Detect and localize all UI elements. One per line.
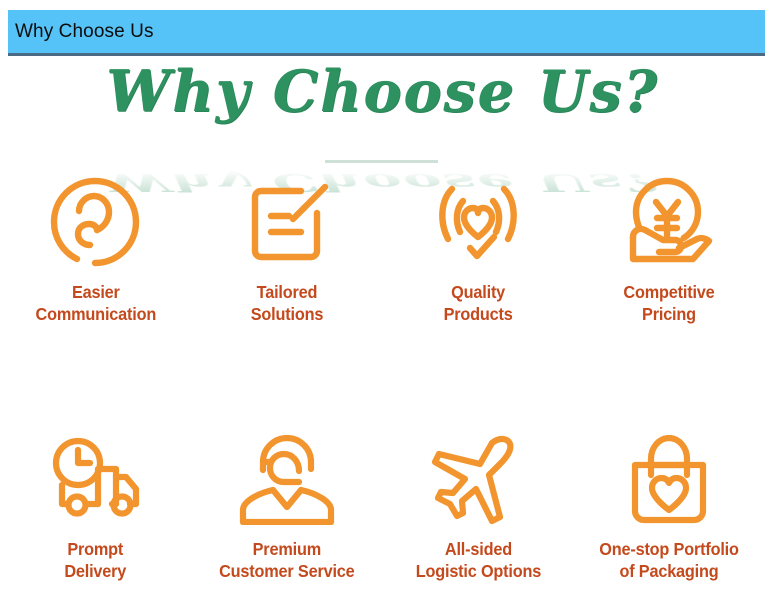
headset-person-icon (237, 425, 337, 535)
feature-label: Competitive Pricing (624, 281, 715, 325)
feature-label: Prompt Delivery (65, 538, 127, 582)
feature-row: Prompt Delivery Premium Customer Service (0, 425, 765, 582)
window-titlebar: Why Choose Us (8, 10, 765, 53)
feature-item-quality-products[interactable]: Quality Products (383, 168, 574, 325)
feature-grid: Easier Communication Tailored Solutions (0, 168, 765, 582)
delivery-truck-clock-icon (46, 425, 146, 535)
heading-block: Why Choose Us? Why Choose Us? (0, 56, 765, 168)
document-pencil-icon (239, 168, 335, 278)
feature-item-prompt-delivery[interactable]: Prompt Delivery (0, 425, 191, 582)
shopping-bag-heart-icon (621, 425, 717, 535)
ear-in-circle-icon (48, 168, 144, 278)
feature-label: One-stop Portfolio of Packaging (600, 538, 740, 582)
feature-row: Easier Communication Tailored Solutions (0, 168, 765, 325)
heart-signal-check-icon (430, 168, 526, 278)
airplane-icon (430, 425, 526, 535)
hand-holding-yen-coin-icon (621, 168, 717, 278)
feature-item-all-sided-logistic-options[interactable]: All-sided Logistic Options (383, 425, 574, 582)
feature-label: Tailored Solutions (251, 281, 323, 325)
window-title: Why Choose Us (8, 21, 154, 43)
feature-item-one-stop-portfolio-of-packaging[interactable]: One-stop Portfolio of Packaging (574, 425, 765, 582)
feature-item-premium-customer-service[interactable]: Premium Customer Service (191, 425, 382, 582)
feature-item-easier-communication[interactable]: Easier Communication (0, 168, 191, 325)
feature-item-competitive-pricing[interactable]: Competitive Pricing (574, 168, 765, 325)
feature-label: Premium Customer Service (219, 538, 354, 582)
content-area: Why Choose Us? Why Choose Us? Easier Com… (0, 56, 765, 599)
feature-item-tailored-solutions[interactable]: Tailored Solutions (191, 168, 382, 325)
page-title: Why Choose Us? (0, 58, 765, 125)
heading-divider (325, 160, 438, 163)
feature-label: All-sided Logistic Options (415, 538, 540, 582)
feature-label: Easier Communication (35, 281, 156, 325)
feature-label: Quality Products (444, 281, 513, 325)
